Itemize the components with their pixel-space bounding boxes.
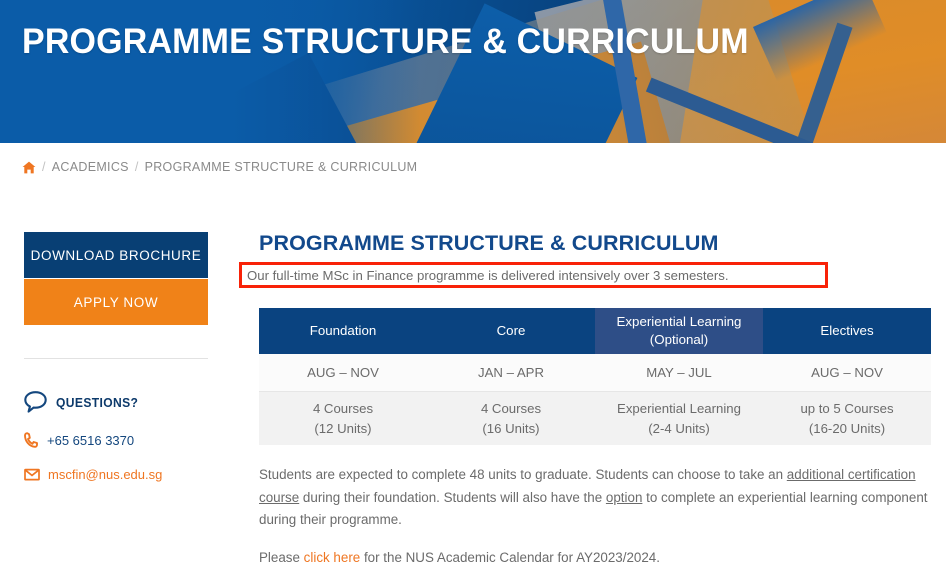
speech-bubble-icon xyxy=(24,391,48,413)
period-foundation: AUG – NOV xyxy=(259,354,427,392)
breadcrumb: / ACADEMICS / PROGRAMME STRUCTURE & CURR… xyxy=(22,160,417,174)
paragraph-calendar-part1: Please xyxy=(259,550,304,565)
banner-shape-blue-stripe-3 xyxy=(646,78,874,143)
courses-experiential: Experiential Learning (2-4 Units) xyxy=(595,392,763,446)
curriculum-table: Foundation Core Experiential Learning (O… xyxy=(259,308,931,445)
table-header-electives: Electives xyxy=(763,308,931,354)
banner-shape-blue-stripe-2 xyxy=(776,23,853,143)
body-text: Students are expected to complete 48 uni… xyxy=(259,464,946,584)
questions-heading: QUESTIONS? xyxy=(24,391,208,413)
paragraph-requirements-part1: Students are expected to complete 48 uni… xyxy=(259,467,787,482)
courses-electives-line2: (16-20 Units) xyxy=(809,421,885,436)
questions-label: QUESTIONS? xyxy=(56,395,138,410)
courses-foundation-line2: (12 Units) xyxy=(314,421,371,436)
table-header-row: Foundation Core Experiential Learning (O… xyxy=(259,308,931,354)
home-icon[interactable] xyxy=(22,161,36,174)
sidebar: DOWNLOAD BROCHURE APPLY NOW QUESTIONS? +… xyxy=(24,232,208,482)
phone-number[interactable]: +65 6516 3370 xyxy=(47,433,134,448)
banner-shape-blue-fade xyxy=(753,0,887,82)
banner-shape-dark-blue xyxy=(105,53,364,143)
sidebar-divider xyxy=(24,358,208,359)
courses-electives-line1: up to 5 Courses xyxy=(800,401,893,416)
breadcrumb-separator-1: / xyxy=(42,160,46,174)
envelope-icon xyxy=(24,468,40,481)
courses-core: 4 Courses (16 Units) xyxy=(427,392,595,446)
breadcrumb-item-academics[interactable]: ACADEMICS xyxy=(52,160,129,174)
period-core: JAN – APR xyxy=(427,354,595,392)
courses-core-line2: (16 Units) xyxy=(482,421,539,436)
courses-foundation-line1: 4 Courses xyxy=(313,401,373,416)
page-banner: PROGRAMME STRUCTURE & CURRICULUM xyxy=(0,0,946,143)
courses-experiential-line1: Experiential Learning xyxy=(617,401,741,416)
table-header-experiential-line2: (Optional) xyxy=(650,332,708,347)
phone-row: +65 6516 3370 xyxy=(24,432,208,448)
table-row-courses: 4 Courses (12 Units) 4 Courses (16 Units… xyxy=(259,392,931,446)
banner-title: PROGRAMME STRUCTURE & CURRICULUM xyxy=(22,22,749,62)
period-experiential: MAY – JUL xyxy=(595,354,763,392)
table-header-experiential-line1: Experiential Learning xyxy=(617,314,742,329)
download-brochure-button[interactable]: DOWNLOAD BROCHURE xyxy=(24,232,208,278)
table-header-core: Core xyxy=(427,308,595,354)
link-option[interactable]: option xyxy=(606,490,642,505)
breadcrumb-item-current: PROGRAMME STRUCTURE & CURRICULUM xyxy=(145,160,418,174)
email-address[interactable]: mscfin@nus.edu.sg xyxy=(48,467,162,482)
courses-core-line1: 4 Courses xyxy=(481,401,541,416)
paragraph-requirements-part2: during their foundation. Students will a… xyxy=(299,490,606,505)
courses-experiential-line2: (2-4 Units) xyxy=(648,421,710,436)
intro-text: Our full-time MSc in Finance programme i… xyxy=(247,268,729,283)
link-click-here[interactable]: click here xyxy=(304,550,361,565)
paragraph-calendar: Please click here for the NUS Academic C… xyxy=(259,547,946,570)
phone-icon xyxy=(24,432,39,448)
paragraph-calendar-part2: for the NUS Academic Calendar for AY2023… xyxy=(360,550,660,565)
apply-now-button[interactable]: APPLY NOW xyxy=(24,279,208,325)
breadcrumb-separator-2: / xyxy=(135,160,139,174)
email-row: mscfin@nus.edu.sg xyxy=(24,467,208,482)
main-content: PROGRAMME STRUCTURE & CURRICULUM Our ful… xyxy=(259,232,931,256)
table-row-periods: AUG – NOV JAN – APR MAY – JUL AUG – NOV xyxy=(259,354,931,392)
table-header-experiential-learning: Experiential Learning (Optional) xyxy=(595,308,763,354)
courses-electives: up to 5 Courses (16-20 Units) xyxy=(763,392,931,446)
table-header-foundation: Foundation xyxy=(259,308,427,354)
page-title: PROGRAMME STRUCTURE & CURRICULUM xyxy=(259,232,931,256)
courses-foundation: 4 Courses (12 Units) xyxy=(259,392,427,446)
period-electives: AUG – NOV xyxy=(763,354,931,392)
paragraph-requirements: Students are expected to complete 48 uni… xyxy=(259,464,946,532)
